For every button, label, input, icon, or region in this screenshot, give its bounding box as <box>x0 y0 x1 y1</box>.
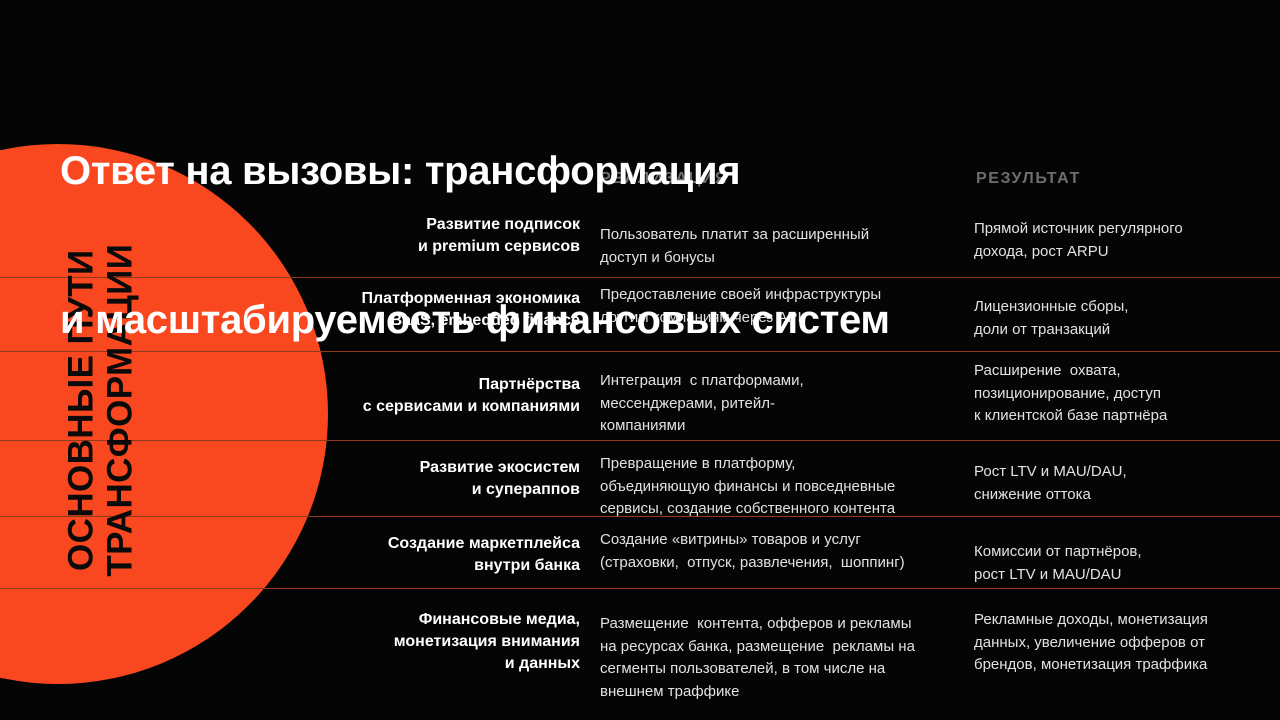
row-result-line: данных, увеличение офферов от <box>974 632 1274 655</box>
row-impl-line: Превращение в платформу, <box>600 453 950 476</box>
row-name-line: Развитие экосистем <box>230 457 580 479</box>
row-name-cell: Финансовые медиа, монетизация внимания и… <box>230 609 580 674</box>
row-result-line: позиционирование, доступ <box>974 383 1274 406</box>
row-result-line: Прямой источник регулярного <box>974 218 1274 241</box>
page-title-line-1: Ответ на вызовы: трансформация <box>60 147 890 197</box>
row-result-line: к клиентской базе партнёра <box>974 405 1274 428</box>
row-result-line: доли от транзакций <box>974 319 1274 342</box>
row-result-line: снижение оттока <box>974 484 1274 507</box>
row-result-line: Лицензионные сборы, <box>974 296 1274 319</box>
row-result-cell: Лицензионные сборы, доли от транзакций <box>974 296 1274 341</box>
row-result-cell: Рекламные доходы, монетизация данных, ув… <box>974 609 1274 677</box>
row-result-cell: Комиссии от партнёров, рост LTV и MAU/DA… <box>974 541 1274 586</box>
row-result-cell: Рост LTV и MAU/DAU, снижение оттока <box>974 461 1274 506</box>
row-result-line: брендов, монетизация траффика <box>974 654 1274 677</box>
row-result-line: Рост LTV и MAU/DAU, <box>974 461 1274 484</box>
row-result-line: дохода, рост ARPU <box>974 241 1274 264</box>
row-impl-line: на ресурсах банка, размещение рекламы на <box>600 636 950 659</box>
row-name-line: монетизация внимания <box>230 631 580 653</box>
row-name-line: и суперaппов <box>230 479 580 501</box>
row-implementation-cell: Создание «витрины» товаров и услуг (стра… <box>600 529 950 574</box>
row-name-line: внутри банка <box>230 555 580 577</box>
row-name-line: Создание маркетплейса <box>230 533 580 555</box>
column-header-result: РЕЗУЛЬТАТ <box>976 170 1081 188</box>
slide-root: ОСНОВНЫЕ ПУТИ ТРАНСФОРМАЦИИ Ответ на выз… <box>0 0 1280 720</box>
row-impl-line: (страховки, отпуск, развлечения, шоппинг… <box>600 552 950 575</box>
row-result-cell: Расширение охвата, позиционирование, дос… <box>974 360 1274 428</box>
row-impl-line: сегменты пользователей, в том числе на <box>600 658 950 681</box>
row-result-line: Расширение охвата, <box>974 360 1274 383</box>
row-implementation-cell: Размещение контента, офферов и рекламы н… <box>600 613 950 703</box>
page-title: Ответ на вызовы: трансформация и масштаб… <box>60 48 890 445</box>
row-result-line: Рекламные доходы, монетизация <box>974 609 1274 632</box>
row-impl-line: Создание «витрины» товаров и услуг <box>600 529 950 552</box>
page-title-line-2: и масштабируемость финансовых систем <box>60 296 890 346</box>
row-result-line: Комиссии от партнёров, <box>974 541 1274 564</box>
row-impl-line: внешнем траффике <box>600 681 950 704</box>
row-name-line: Финансовые медиа, <box>230 609 580 631</box>
row-impl-line: объединяющую финансы и повседневные <box>600 476 950 499</box>
row-implementation-cell: Превращение в платформу, объединяющую фи… <box>600 453 950 521</box>
row-result-cell: Прямой источник регулярного дохода, рост… <box>974 218 1274 263</box>
row-name-cell: Развитие экосистем и суперaппов <box>230 457 580 501</box>
row-name-line: и данных <box>230 653 580 675</box>
row-impl-line: Размещение контента, офферов и рекламы <box>600 613 950 636</box>
row-name-cell: Создание маркетплейса внутри банка <box>230 533 580 577</box>
row-result-line: рост LTV и MAU/DAU <box>974 564 1274 587</box>
